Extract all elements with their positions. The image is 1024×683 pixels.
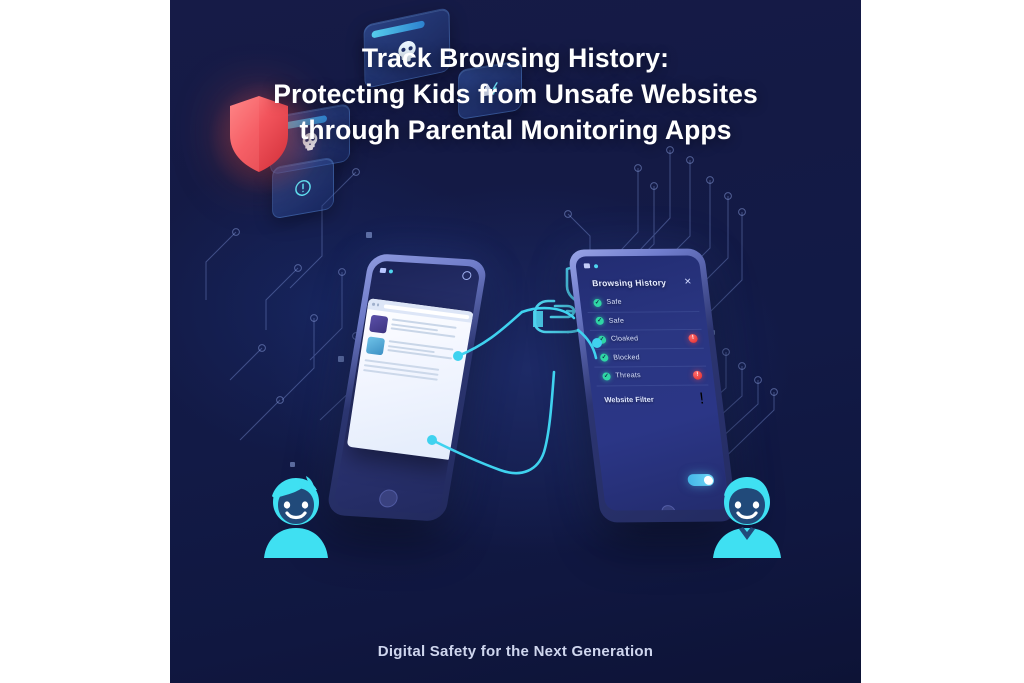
poster-canvas: Track Browsing History: Protecting Kids … <box>0 0 1024 683</box>
home-button[interactable] <box>378 489 399 508</box>
title-line-3: through Parental Monitoring Apps <box>170 112 861 148</box>
list-item[interactable]: ✓ Blocked <box>592 348 706 367</box>
list-item-label: Blocked <box>613 354 640 361</box>
browser-dot-icon <box>376 303 379 306</box>
panel-title: Browsing History <box>591 278 666 289</box>
check-icon: ✓ <box>595 317 604 325</box>
title-line-1: Track Browsing History: <box>170 40 861 76</box>
list-item-label: Cloaked <box>611 336 639 343</box>
history-list: ✓ Safe ✓ Safe ✓ Cloaked ! <box>585 293 708 386</box>
website-filter-label: Website Filter <box>604 395 654 404</box>
list-item[interactable]: ✓ Cloaked ! <box>590 330 704 349</box>
list-item[interactable]: ✓ Safe <box>585 293 699 312</box>
check-icon: ✓ <box>600 354 609 362</box>
list-item-label: Safe <box>608 317 624 324</box>
camera-icon <box>462 271 473 280</box>
browser-window-card <box>347 298 474 460</box>
list-item-label: Safe <box>606 299 622 306</box>
check-icon: ✓ <box>593 299 602 307</box>
child-avatar <box>258 470 334 566</box>
contact-avatar-purple <box>369 315 388 334</box>
alert-icon <box>293 176 313 200</box>
parent-avatar <box>706 470 788 568</box>
panel-header: Browsing History ✕ <box>583 277 696 288</box>
list-item[interactable]: ✓ Safe <box>588 312 702 331</box>
signal-icon <box>584 263 591 268</box>
website-filter-row[interactable]: Website Filter ! <box>597 390 711 409</box>
child-face-icon <box>264 476 328 558</box>
check-icon: ✓ <box>602 372 611 380</box>
status-dot-icon <box>594 264 599 268</box>
dark-poster-panel: Track Browsing History: Protecting Kids … <box>170 0 861 683</box>
check-icon: ✓ <box>598 335 607 343</box>
tagline: Digital Safety for the Next Generation <box>170 643 861 660</box>
signal-icon <box>380 268 387 273</box>
close-icon[interactable]: ✕ <box>684 277 693 286</box>
alert-badge[interactable]: ! <box>698 390 705 408</box>
phone-status-bar <box>380 268 394 274</box>
browser-dot-icon <box>372 303 375 306</box>
list-item[interactable]: ✓ Threats ! <box>594 367 708 386</box>
contact-avatar-blue <box>366 336 385 355</box>
tablet-status-bar <box>584 263 599 268</box>
status-dot-icon <box>389 269 394 273</box>
parent-face-icon <box>713 477 781 558</box>
alert-badge[interactable]: ! <box>688 334 698 343</box>
page-title: Track Browsing History: Protecting Kids … <box>170 40 861 148</box>
browsing-history-panel: Browsing History ✕ ✓ Safe ✓ Safe <box>583 277 723 504</box>
list-item-label: Threats <box>615 372 641 379</box>
home-button[interactable] <box>660 505 676 511</box>
alert-badge[interactable]: ! <box>693 371 703 380</box>
title-line-2: Protecting Kids from Unsafe Websites <box>170 76 861 112</box>
